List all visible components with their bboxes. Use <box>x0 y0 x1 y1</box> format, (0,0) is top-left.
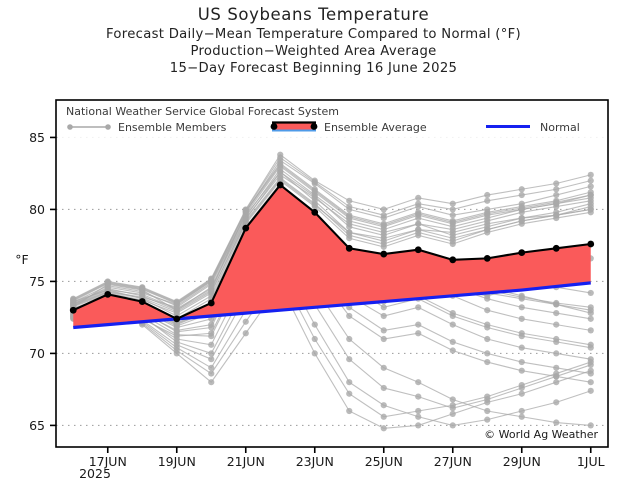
ensemble-member-point <box>312 202 318 208</box>
ensemble-member-point <box>174 299 180 305</box>
ensemble-member-point <box>553 419 559 425</box>
legend-label-ensemble-average: Ensemble Average <box>324 121 427 134</box>
ensemble-member-point <box>312 336 318 342</box>
ensemble-member-point <box>381 385 387 391</box>
ensemble-member-point <box>208 276 214 282</box>
ensemble-member-point <box>519 316 525 322</box>
ensemble-member-point <box>553 180 559 186</box>
ensemble-average-point <box>484 255 491 262</box>
ensemble-member-point <box>553 379 559 385</box>
ensemble-member-point <box>312 322 318 328</box>
ensemble-member-point <box>381 414 387 420</box>
ensemble-member-point <box>415 201 421 207</box>
ensemble-member-point <box>588 290 594 296</box>
ensemble-average-point <box>449 256 456 263</box>
ensemble-member-point <box>484 336 490 342</box>
ensemble-member-point <box>553 186 559 192</box>
x-tick-label: 21JUN <box>227 454 265 469</box>
ensemble-member-point <box>105 279 111 285</box>
ensemble-average-dot-right-icon <box>311 123 318 130</box>
ensemble-member-point <box>208 324 214 330</box>
ensemble-member-point <box>381 232 387 238</box>
ensemble-member-point <box>588 206 594 212</box>
ensemble-member-point <box>588 388 594 394</box>
ensemble-member-point <box>243 207 249 213</box>
ensemble-member-point <box>346 391 352 397</box>
ensemble-member-point <box>484 192 490 198</box>
ensemble-member-point <box>381 313 387 319</box>
ensemble-member-point <box>519 345 525 351</box>
ensemble-average-point <box>242 225 249 232</box>
ensemble-member-point <box>208 342 214 348</box>
ensemble-member-point <box>553 322 559 328</box>
ensemble-average-point <box>208 300 215 307</box>
ensemble-member-point <box>381 304 387 310</box>
ensemble-member-point <box>519 205 525 211</box>
legend-label-normal: Normal <box>540 121 580 134</box>
ensemble-member-point <box>553 212 559 218</box>
ensemble-members-dot-right-icon <box>105 124 111 130</box>
ensemble-member-point <box>312 179 318 185</box>
x-tick-label: 29JUN <box>503 454 541 469</box>
ensemble-member-point <box>415 379 421 385</box>
ensemble-member-point <box>588 370 594 376</box>
ensemble-member-point <box>415 422 421 428</box>
ensemble-average-point <box>104 291 111 298</box>
ensemble-member-point <box>381 402 387 408</box>
ensemble-member-point <box>553 399 559 405</box>
ensemble-member-point <box>588 192 594 198</box>
y-tick-label: 70 <box>29 346 45 361</box>
ensemble-member-point <box>484 350 490 356</box>
ensemble-member-point <box>553 370 559 376</box>
ensemble-member-point <box>415 414 421 420</box>
ensemble-member-point <box>588 172 594 178</box>
ensemble-member-point <box>553 199 559 205</box>
ensemble-member-point <box>346 229 352 235</box>
y-axis-title: °F <box>15 252 28 267</box>
ensemble-member-point <box>381 365 387 371</box>
ensemble-member-point <box>346 203 352 209</box>
ensemble-member-point <box>553 310 559 316</box>
ensemble-member-point <box>484 394 490 400</box>
ensemble-member-point <box>139 285 145 291</box>
ensemble-member-point <box>277 162 283 168</box>
ensemble-member-point <box>519 192 525 198</box>
ensemble-member-point <box>588 359 594 365</box>
ensemble-member-point <box>450 411 456 417</box>
ensemble-member-point <box>381 238 387 244</box>
ensemble-member-point <box>450 201 456 207</box>
ensemble-member-point <box>484 324 490 330</box>
ensemble-average-point <box>277 182 284 189</box>
ensemble-member-point <box>588 304 594 310</box>
y-tick-label: 80 <box>29 202 45 217</box>
ensemble-member-point <box>174 342 180 348</box>
ensemble-member-point <box>519 391 525 397</box>
credit-label: © World Ag Weather <box>484 428 598 441</box>
ensemble-average-point <box>173 315 180 322</box>
legend-source-label: National Weather Service Global Forecast… <box>66 105 339 118</box>
ensemble-average-point <box>518 249 525 256</box>
ensemble-member-point <box>519 294 525 300</box>
ensemble-average-point <box>415 246 422 253</box>
ensemble-member-point <box>484 211 490 217</box>
ensemble-member-point <box>277 176 283 182</box>
ensemble-member-point <box>346 214 352 220</box>
ensemble-member-point <box>553 365 559 371</box>
ensemble-member-point <box>484 417 490 423</box>
legend-label-ensemble-members: Ensemble Members <box>118 121 227 134</box>
ensemble-member-point <box>484 198 490 204</box>
ensemble-member-point <box>312 350 318 356</box>
ensemble-member-point <box>174 347 180 353</box>
x-tick-label: 1JUL <box>577 454 605 469</box>
ensemble-member-point <box>450 206 456 212</box>
ensemble-member-point <box>519 359 525 365</box>
ensemble-average-point <box>346 245 353 252</box>
x-tick-label: 23JUN <box>296 454 334 469</box>
ensemble-average-dot-left-icon <box>271 123 278 130</box>
ensemble-member-point <box>553 339 559 345</box>
ensemble-member-point <box>346 224 352 230</box>
ensemble-member-point <box>415 195 421 201</box>
ensemble-member-point <box>588 201 594 207</box>
y-tick-label: 65 <box>29 418 45 433</box>
temperature-chart: 6570758085 17JUN19JUN21JUN23JUN25JUN27JU… <box>0 0 627 485</box>
ensemble-member-point <box>519 218 525 224</box>
ensemble-member-point <box>519 368 525 374</box>
ensemble-member-point <box>415 211 421 217</box>
ensemble-average-point <box>311 209 318 216</box>
x-tick-label: 27JUN <box>434 454 472 469</box>
ensemble-member-point <box>588 345 594 351</box>
ensemble-average-point <box>587 241 594 248</box>
ensemble-member-point <box>484 226 490 232</box>
ensemble-member-point <box>588 327 594 333</box>
ensemble-member-point <box>381 327 387 333</box>
ensemble-average-point <box>70 307 77 314</box>
ensemble-member-point <box>484 296 490 302</box>
ensemble-member-point <box>450 322 456 328</box>
ensemble-member-point <box>588 183 594 189</box>
ensemble-member-point <box>381 222 387 228</box>
ensemble-member-point <box>450 235 456 241</box>
ensemble-member-point <box>277 169 283 175</box>
ensemble-member-point <box>450 212 456 218</box>
ensemble-member-point <box>450 313 456 319</box>
ensemble-average-point <box>380 251 387 258</box>
ensemble-member-point <box>484 307 490 313</box>
ensemble-member-point <box>415 304 421 310</box>
ensemble-member-point <box>484 359 490 365</box>
chart-page: US Soybeans Temperature Forecast Daily−M… <box>0 0 627 485</box>
ensemble-member-point <box>450 339 456 345</box>
ensemble-member-point <box>588 178 594 184</box>
ensemble-member-point <box>174 309 180 315</box>
ensemble-member-point <box>346 379 352 385</box>
ensemble-member-point <box>243 319 249 325</box>
ensemble-average-point <box>139 298 146 305</box>
ensemble-member-point <box>415 394 421 400</box>
ensemble-member-point <box>450 396 456 402</box>
ensemble-member-point <box>588 379 594 385</box>
ensemble-member-point <box>208 288 214 294</box>
ensemble-member-point <box>277 154 283 160</box>
ensemble-member-point <box>346 313 352 319</box>
ensemble-member-point <box>450 219 456 225</box>
ensemble-member-point <box>553 350 559 356</box>
ensemble-member-point <box>450 422 456 428</box>
ensemble-member-point <box>519 333 525 339</box>
ensemble-member-point <box>588 316 594 322</box>
ensemble-member-point <box>484 408 490 414</box>
ensemble-member-point <box>415 221 421 227</box>
ensemble-member-point <box>208 356 214 362</box>
ensemble-member-point <box>381 425 387 431</box>
ensemble-member-point <box>415 408 421 414</box>
ensemble-member-point <box>346 336 352 342</box>
ensemble-member-point <box>346 198 352 204</box>
ensemble-member-point <box>415 322 421 328</box>
y-axis: 6570758085 <box>29 130 56 433</box>
ensemble-member-point <box>174 332 180 338</box>
ensemble-member-point <box>415 330 421 336</box>
ensemble-member-point <box>519 414 525 420</box>
ensemble-member-point <box>381 212 387 218</box>
ensemble-member-point <box>312 188 318 194</box>
ensemble-member-point <box>450 347 456 353</box>
ensemble-member-point <box>312 193 318 199</box>
ensemble-member-point <box>519 186 525 192</box>
ensemble-member-point <box>381 206 387 212</box>
ensemble-member-point <box>519 408 525 414</box>
ensemble-member-point <box>415 226 421 232</box>
ensemble-average-swatch-icon <box>272 123 316 130</box>
ensemble-member-point <box>70 296 76 302</box>
x-tick-label: 19JUN <box>158 454 196 469</box>
ensemble-member-point <box>208 379 214 385</box>
ensemble-member-point <box>519 304 525 310</box>
ensemble-member-point <box>208 333 214 339</box>
y-tick-label: 75 <box>29 274 45 289</box>
ensemble-member-point <box>519 382 525 388</box>
ensemble-member-point <box>553 300 559 306</box>
ensemble-member-point <box>346 356 352 362</box>
ensemble-member-point <box>208 370 214 376</box>
ensemble-member-point <box>243 330 249 336</box>
ensemble-member-point <box>346 408 352 414</box>
x-axis-year-label: 2025 <box>79 466 111 481</box>
ensemble-member-point <box>553 192 559 198</box>
ensemble-member-point <box>450 402 456 408</box>
ensemble-average-point <box>553 245 560 252</box>
ensemble-member-point <box>381 336 387 342</box>
x-axis: 17JUN19JUN21JUN23JUN25JUN27JUN29JUN1JUL <box>89 447 605 469</box>
y-tick-label: 85 <box>29 130 45 145</box>
ensemble-members-dot-left-icon <box>67 124 73 130</box>
x-tick-label: 25JUN <box>365 454 403 469</box>
